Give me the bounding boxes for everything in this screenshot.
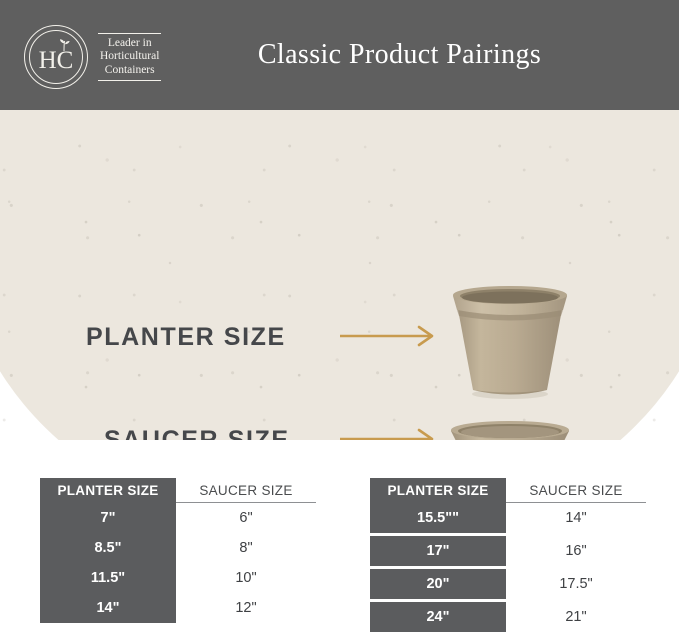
cell-saucer-size: 12" — [176, 593, 316, 623]
cell-planter-size: 20" — [370, 569, 506, 599]
cell-planter-size: 14" — [40, 593, 176, 623]
planter-pot-icon — [443, 282, 577, 400]
column-header-saucer-size: SAUCER SIZE — [176, 478, 316, 503]
cell-saucer-size: 16" — [506, 536, 646, 566]
table-row: 8.5" 8" — [40, 533, 316, 563]
hero-background — [0, 110, 679, 440]
cell-saucer-size: 17.5" — [506, 569, 646, 599]
right-arrow-icon — [340, 428, 440, 440]
right-arrow-icon — [340, 325, 440, 347]
table-row: 20" 17.5" — [370, 569, 646, 599]
brand-monogram: HC — [39, 42, 74, 73]
saucer-size-label: SAUCER SIZE — [104, 426, 290, 440]
table-row: 15.5"" 14" — [370, 503, 646, 533]
saucer-dish-icon — [443, 415, 577, 440]
cell-planter-size: 17" — [370, 536, 506, 566]
tagline-line-1: Leader in — [100, 37, 159, 51]
cell-planter-size: 24" — [370, 602, 506, 632]
cell-saucer-size: 8" — [176, 533, 316, 563]
tagline-rule-bottom — [98, 80, 161, 81]
size-table-small: PLANTER SIZE SAUCER SIZE 7" 6" 8.5" 8" 1… — [40, 478, 316, 623]
cell-planter-size: 11.5" — [40, 563, 176, 593]
size-table-large: PLANTER SIZE SAUCER SIZE 15.5"" 14" 17" … — [370, 478, 646, 635]
cell-planter-size: 15.5"" — [370, 503, 506, 533]
planter-size-label: PLANTER SIZE — [86, 323, 286, 352]
cell-saucer-size: 21" — [506, 602, 646, 632]
tagline-line-3: Containers — [100, 64, 159, 78]
hero-section: PLANTER SIZE SAUCER — [0, 110, 679, 440]
cell-planter-size: 8.5" — [40, 533, 176, 563]
cell-planter-size: 7" — [40, 503, 176, 533]
table-row: 14" 12" — [40, 593, 316, 623]
cell-saucer-size: 6" — [176, 503, 316, 533]
cell-saucer-size: 10" — [176, 563, 316, 593]
table-header-row: PLANTER SIZE SAUCER SIZE — [370, 478, 646, 503]
tagline-line-2: Horticultural — [100, 50, 159, 64]
column-header-planter-size: PLANTER SIZE — [370, 478, 506, 503]
table-row: 24" 21" — [370, 602, 646, 632]
cell-saucer-size: 14" — [506, 503, 646, 533]
table-row: 17" 16" — [370, 536, 646, 566]
table-row: 11.5" 10" — [40, 563, 316, 593]
brand-lockup: HC Leader in Horticultural Containers — [24, 25, 161, 89]
column-header-saucer-size: SAUCER SIZE — [506, 478, 646, 503]
column-header-planter-size: PLANTER SIZE — [40, 478, 176, 503]
size-tables-section: PLANTER SIZE SAUCER SIZE 7" 6" 8.5" 8" 1… — [0, 440, 679, 636]
page-header: HC Leader in Horticultural Containers Cl… — [0, 0, 679, 110]
table-header-row: PLANTER SIZE SAUCER SIZE — [40, 478, 316, 503]
brand-tagline: Leader in Horticultural Containers — [98, 29, 161, 86]
hero-texture — [0, 110, 679, 440]
table-row: 7" 6" — [40, 503, 316, 533]
hc-circle-logo-icon: HC — [24, 25, 88, 89]
